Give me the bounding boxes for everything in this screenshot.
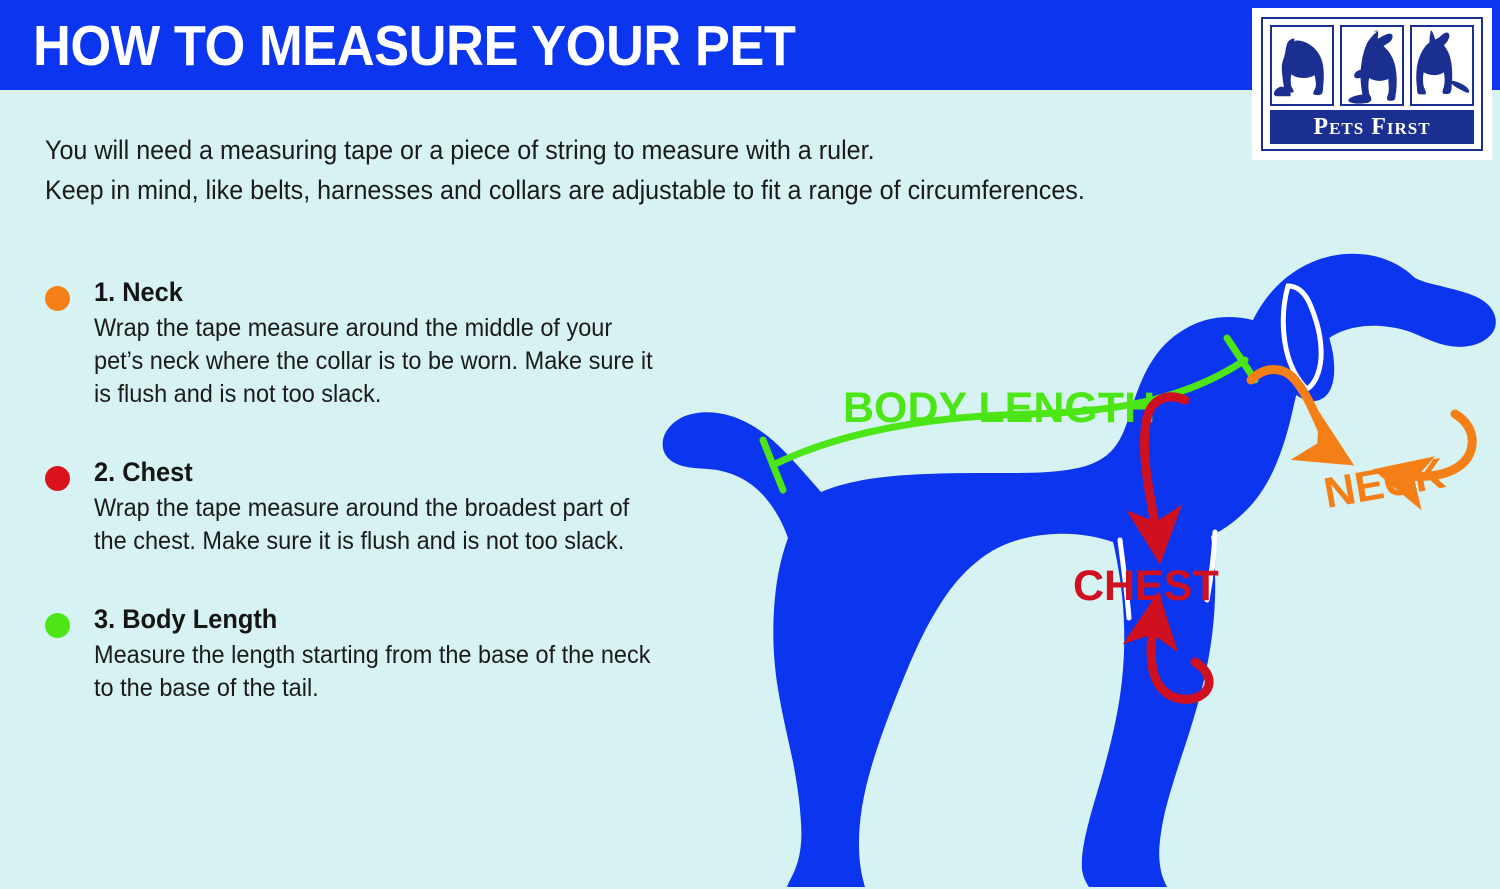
howling-dog-silhouette-icon [1340, 25, 1404, 106]
alert-dog-silhouette-icon [1410, 25, 1474, 106]
step-item-body-length: 3. Body Length Measure the length starti… [42, 602, 682, 705]
step-body-body-length: Measure the length starting from the bas… [94, 639, 658, 705]
logo-wordmark-text: Pets First [1313, 114, 1430, 140]
step-title-body-length: 3. Body Length [94, 602, 647, 636]
step-item-neck: 1. Neck Wrap the tape measure around the… [42, 275, 682, 411]
logo-dog-panels [1270, 25, 1474, 106]
bullet-chest-icon [45, 466, 70, 491]
bullet-neck-icon [45, 286, 70, 311]
step-body-chest: Wrap the tape measure around the broades… [94, 492, 658, 558]
intro-line-2: Keep in mind, like belts, harnesses and … [45, 170, 1245, 210]
step-title-neck: 1. Neck [94, 275, 647, 309]
logo-wordmark: Pets First [1270, 110, 1474, 144]
step-item-chest: 2. Chest Wrap the tape measure around th… [42, 455, 682, 558]
bullet-body-length-icon [45, 613, 70, 638]
measurement-steps-list: 1. Neck Wrap the tape measure around the… [42, 275, 682, 737]
brand-logo: Pets First [1252, 8, 1492, 160]
intro-line-1: You will need a measuring tape or a piec… [45, 130, 1245, 170]
body-length-label: BODY LENGTH [843, 384, 1155, 432]
infographic-page: HOW TO MEASURE YOUR PET [0, 0, 1500, 889]
intro-text: You will need a measuring tape or a piec… [45, 130, 1245, 210]
step-title-chest: 2. Chest [94, 455, 647, 489]
logo-frame: Pets First [1261, 17, 1483, 151]
page-title: HOW TO MEASURE YOUR PET [33, 16, 796, 76]
sitting-dog-silhouette-icon [1270, 25, 1334, 106]
chest-label: CHEST [1073, 562, 1219, 610]
dog-measurement-diagram: BODY LENGTH NECK CHEST [655, 240, 1500, 889]
step-body-neck: Wrap the tape measure around the middle … [94, 312, 658, 411]
